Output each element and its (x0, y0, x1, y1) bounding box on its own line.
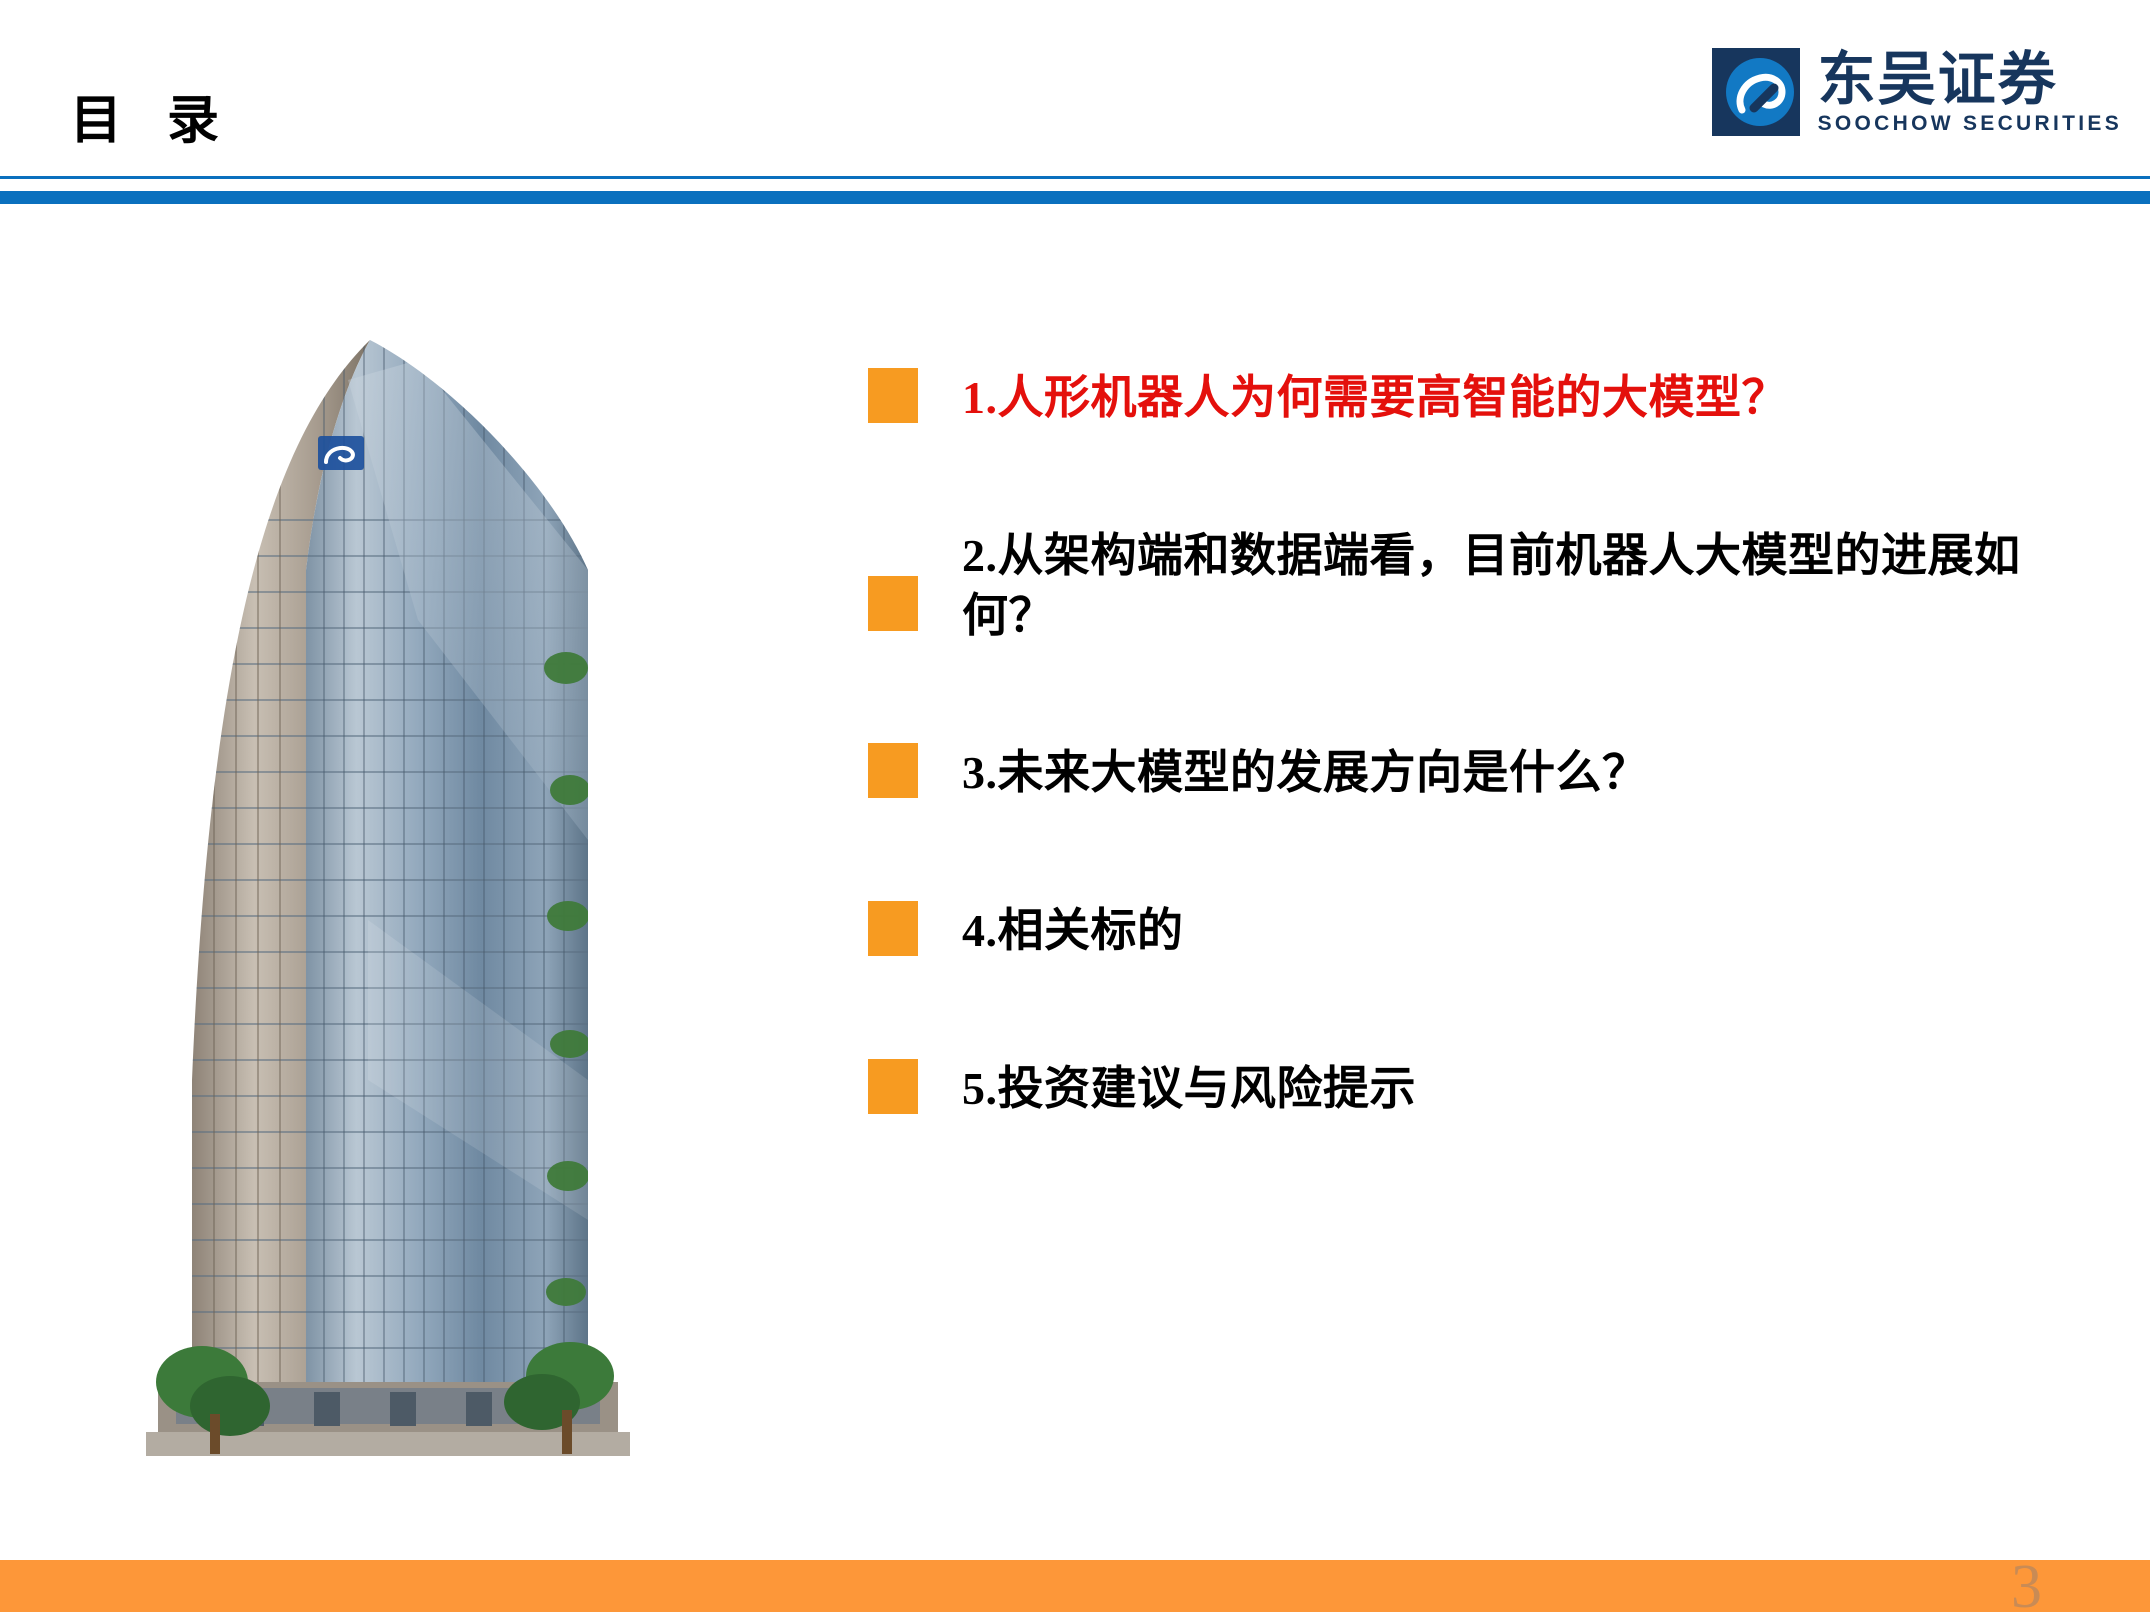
footer-bar (0, 1560, 2150, 1612)
toc-item-5-label: 5.投资建议与风险提示 (962, 1059, 1416, 1119)
table-of-contents: 1.人形机器人为何需要高智能的大模型？ 2.从架构端和数据端看，目前机器人大模型… (868, 368, 2068, 1119)
toc-item-1[interactable]: 1.人形机器人为何需要高智能的大模型？ (868, 368, 2068, 428)
brand-lockup: 东吴证券 SOOCHOW SECURITIES (1712, 48, 2122, 136)
page-number: 3 (2011, 1556, 2042, 1612)
toc-item-3-label: 3.未来大模型的发展方向是什么？ (962, 743, 1649, 803)
bullet-square-icon (868, 368, 918, 423)
bullet-square-icon (868, 576, 918, 631)
slide-root: 目 录 东吴证券 SOOCHOW SECURITIES (0, 0, 2150, 1612)
bullet-square-icon (868, 901, 918, 956)
bullet-square-icon (868, 1059, 918, 1114)
toc-item-4[interactable]: 4.相关标的 (868, 901, 2068, 961)
slide-header: 目 录 东吴证券 SOOCHOW SECURITIES (0, 0, 2150, 190)
toc-item-4-label: 4.相关标的 (962, 901, 1184, 961)
header-rule-thick (0, 191, 2150, 204)
brand-text-block: 东吴证券 SOOCHOW SECURITIES (1818, 48, 2122, 136)
toc-item-5[interactable]: 5.投资建议与风险提示 (868, 1059, 2068, 1119)
page-title: 目 录 (70, 96, 235, 148)
toc-item-3[interactable]: 3.未来大模型的发展方向是什么？ (868, 743, 2068, 803)
toc-item-2-label: 2.从架构端和数据端看，目前机器人大模型的进展如何？ (962, 526, 2052, 646)
toc-item-1-label: 1.人形机器人为何需要高智能的大模型？ (962, 368, 1788, 428)
brand-name-en: SOOCHOW SECURITIES (1818, 112, 2122, 136)
headquarters-building-image (118, 320, 658, 1480)
bullet-square-icon (868, 743, 918, 798)
header-rule-thin (0, 176, 2150, 179)
brand-name-cn: 东吴证券 (1818, 50, 2122, 109)
toc-item-2[interactable]: 2.从架构端和数据端看，目前机器人大模型的进展如何？ (868, 526, 2068, 646)
soochow-securities-swirl-logo-icon (1712, 48, 1800, 136)
